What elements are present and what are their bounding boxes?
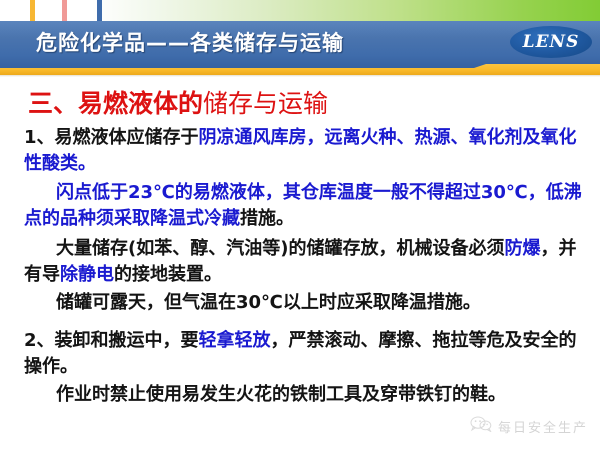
text-run: 措施。 bbox=[240, 208, 294, 229]
decor-tick-pink bbox=[62, 0, 67, 22]
decor-tick-blue bbox=[97, 0, 102, 22]
text-run: 作业时禁止使用易发生火花的铁制工具及穿带铁钉的鞋。 bbox=[56, 384, 506, 405]
text-run: 的接地装置。 bbox=[114, 264, 222, 285]
watermark: 每日安全生产 bbox=[470, 416, 588, 436]
body-paragraph-item-2: 2、装卸和搬运中，要轻拿轻放，严禁滚动、摩擦、拖拉等危及安全的操作。 bbox=[24, 328, 584, 380]
text-run: 1、易燃液体应储存于 bbox=[24, 127, 199, 148]
section-heading-bold: 三、易燃液体的 bbox=[28, 89, 203, 118]
text-run: 储罐可露天，但气温在30℃以上时应采取降温措施。 bbox=[56, 292, 481, 313]
text-run: 除静电 bbox=[60, 264, 114, 285]
section-heading: 三、易燃液体的储存与运输 bbox=[28, 84, 328, 120]
body-paragraph-item-1-sub-3: 储罐可露天，但气温在30℃以上时应采取降温措施。 bbox=[24, 290, 584, 316]
text-run: 轻拿轻放 bbox=[199, 330, 271, 351]
body-paragraph-item-1: 1、易燃液体应储存于阴凉通风库房，远离火种、热源、氧化剂及氧化性酸类。 bbox=[24, 125, 584, 177]
wechat-bubble-icon bbox=[470, 416, 492, 436]
watermark-label: 每日安全生产 bbox=[498, 417, 588, 436]
body-paragraph-item-1-sub-1: 闪点低于23℃的易燃液体，其仓库温度一般不得超过30℃，低沸点的品种须采取降温式… bbox=[24, 180, 584, 232]
decor-tick-orange bbox=[30, 0, 35, 22]
text-run: 2、装卸和搬运中，要 bbox=[24, 330, 199, 351]
body-paragraph-item-2-sub-1: 作业时禁止使用易发生火花的铁制工具及穿带铁钉的鞋。 bbox=[24, 382, 584, 408]
green-gradient-band bbox=[92, 0, 600, 21]
header-title: 危险化学品——各类储存与运输 bbox=[36, 27, 344, 57]
section-heading-normal: 储存与运输 bbox=[203, 89, 328, 118]
text-run: 闪点低于23℃的易燃液体，其仓库温度一般不得超过30℃，低沸点的品种须采取降温式… bbox=[24, 182, 582, 229]
text-run: 大量储存(如苯、醇、汽油等)的储罐存放，机械设备必须 bbox=[56, 238, 504, 259]
slide-canvas: 危险化学品——各类储存与运输 LENS 三、易燃液体的储存与运输 1、易燃液体应… bbox=[0, 0, 600, 450]
body-content: 1、易燃液体应储存于阴凉通风库房，远离火种、热源、氧化剂及氧化性酸类。闪点低于2… bbox=[24, 125, 584, 408]
top-decor-strip bbox=[0, 0, 600, 22]
lens-logo-text: LENS bbox=[510, 26, 592, 58]
body-paragraph-item-1-sub-2: 大量储存(如苯、醇、汽油等)的储罐存放，机械设备必须防爆，并有导除静电的接地装置… bbox=[24, 236, 584, 288]
lens-logo-badge: LENS bbox=[510, 26, 592, 58]
text-run: 防爆 bbox=[504, 238, 540, 259]
